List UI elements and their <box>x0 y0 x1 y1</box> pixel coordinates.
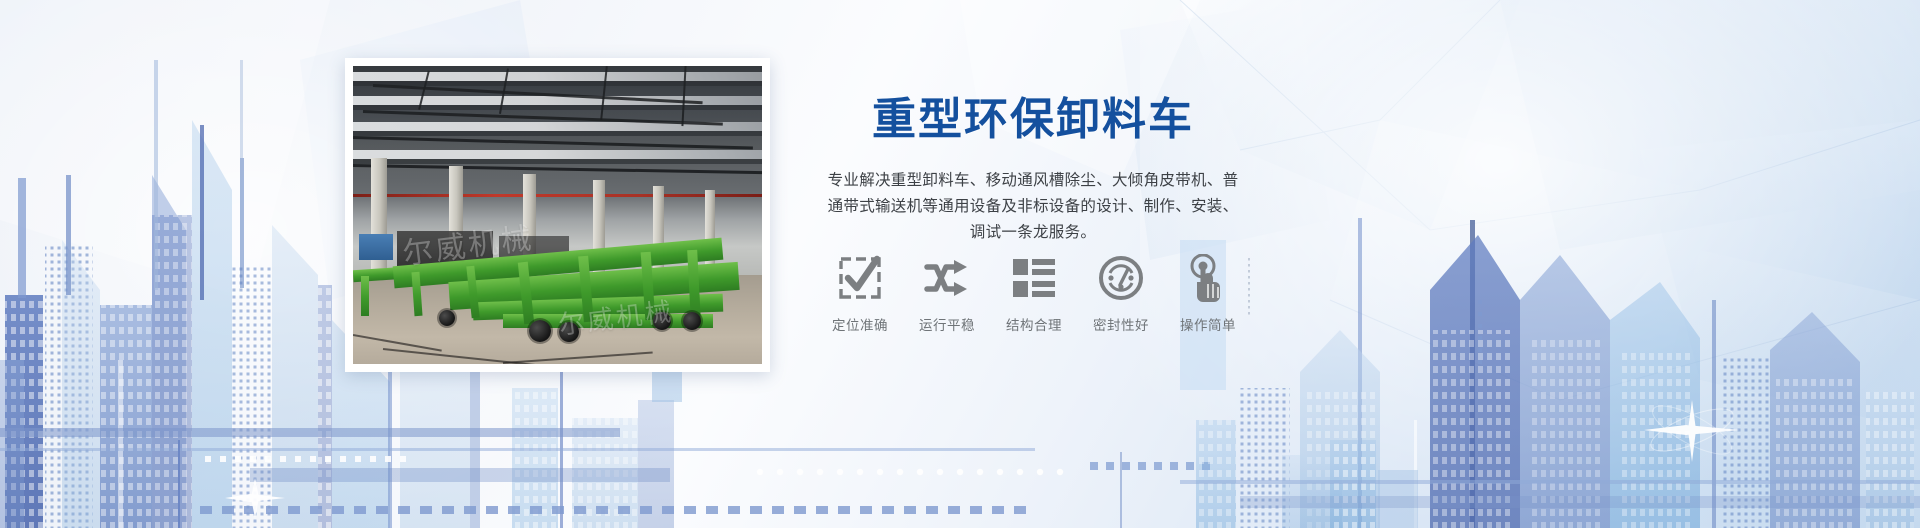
feature-divider-dots <box>1248 258 1250 318</box>
feature-label: 结构合理 <box>992 314 1076 334</box>
banner-description: 专业解决重型卸料车、移动通风槽除尘、大倾角皮带机、普 通带式输送机等通用设备及非… <box>818 168 1248 246</box>
feature-label: 运行平稳 <box>905 314 989 334</box>
feature-item-positioning[interactable]: 定位准确 <box>818 252 902 334</box>
layout-blocks-icon <box>992 252 1076 304</box>
photo-haze <box>353 66 762 364</box>
product-photo-card: 尔威机械 尔威机械 <box>345 58 770 372</box>
feature-item-structure[interactable]: 结构合理 <box>992 252 1076 334</box>
feature-item-easy-operation[interactable]: 操作简单 <box>1166 252 1250 334</box>
seal-gauge-icon <box>1079 252 1163 304</box>
heavy-duty-unloading-machine-photo: 尔威机械 尔威机械 <box>353 66 762 364</box>
banner-text-block: 重型环保卸料车 专业解决重型卸料车、移动通风槽除尘、大倾角皮带机、普 通带式输送… <box>818 96 1248 246</box>
feature-item-sealing[interactable]: 密封性好 <box>1079 252 1163 334</box>
feature-item-smooth-operation[interactable]: 运行平稳 <box>905 252 989 334</box>
feature-label: 定位准确 <box>818 314 902 334</box>
shuffle-arrows-icon <box>905 252 989 304</box>
hero-banner: 尔威机械 尔威机械 重型环保卸料车 专业解决重型卸料车、移动通风槽除尘、大倾角皮… <box>0 0 1920 528</box>
description-line-2: 通带式输送机等通用设备及非标设备的设计、制作、安装、 <box>818 194 1248 220</box>
checkbox-check-icon <box>818 252 902 304</box>
description-line-3: 调试一条龙服务。 <box>818 220 1248 246</box>
feature-label: 密封性好 <box>1079 314 1163 334</box>
description-line-1: 专业解决重型卸料车、移动通风槽除尘、大倾角皮带机、普 <box>818 168 1248 194</box>
feature-label: 操作简单 <box>1166 314 1250 334</box>
feature-list: 定位准确 运行平稳 <box>818 252 1250 334</box>
touch-hand-icon <box>1166 252 1250 304</box>
page-title: 重型环保卸料车 <box>818 96 1248 144</box>
